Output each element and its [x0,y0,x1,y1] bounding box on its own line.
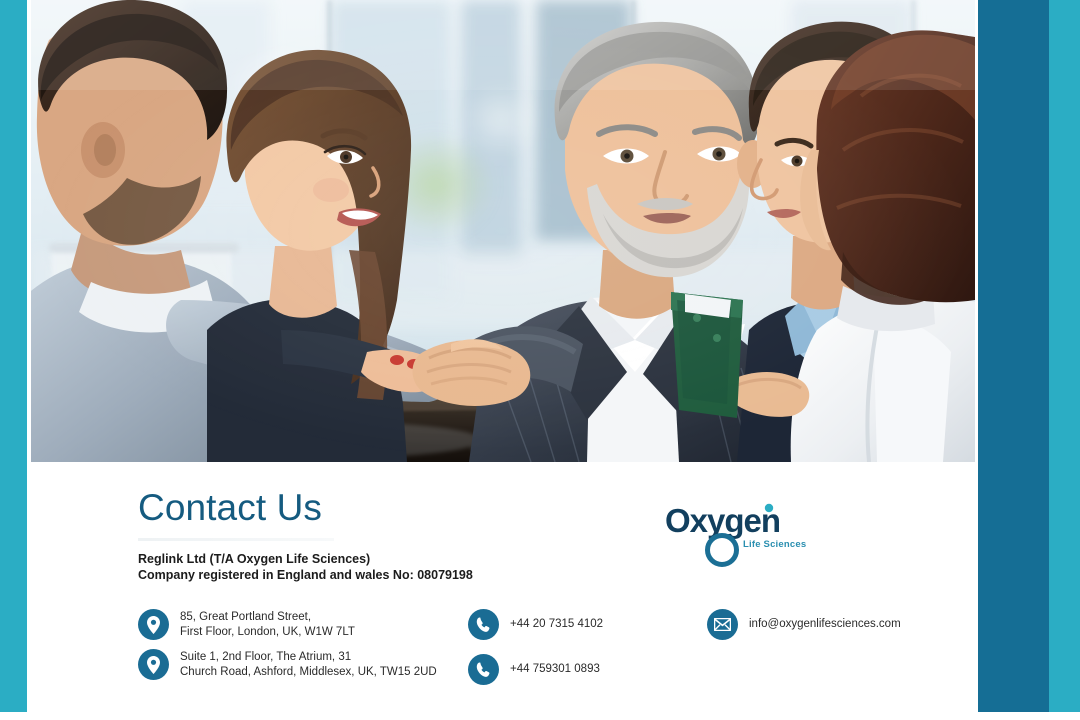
right-accent-band-dark [978,0,1049,712]
right-accent-band-light [1049,0,1080,712]
email-column: info@oxygenlifesciences.com [707,609,977,649]
hero-photo [31,0,975,462]
phone-column: +44 20 7315 4102 +44 759301 0893 [468,609,718,694]
envelope-icon [707,609,738,640]
contact-panel: Contact Us Reglink Ltd (T/A Oxygen Life … [31,462,975,712]
address-line-2: First Floor, London, UK, W1W 7LT [180,625,355,640]
contact-slide: Contact Us Reglink Ltd (T/A Oxygen Life … [0,0,1080,720]
address-text: Suite 1, 2nd Floor, The Atrium, 31 Churc… [180,649,437,679]
email-address: info@oxygenlifesciences.com [749,617,901,632]
phone-icon [468,609,499,640]
title-underline [138,538,334,541]
phone-item[interactable]: +44 759301 0893 [468,654,718,685]
phone-icon [468,654,499,685]
svg-text:Life Sciences: Life Sciences [743,539,806,550]
page-title: Contact Us [138,489,322,526]
address-column: 85, Great Portland Street, First Floor, … [138,609,468,689]
phone-number: +44 759301 0893 [510,662,600,677]
address-text: 85, Great Portland Street, First Floor, … [180,609,355,639]
address-line-1: Suite 1, 2nd Floor, The Atrium, 31 [180,650,437,665]
email-item[interactable]: info@oxygenlifesciences.com [707,609,977,640]
left-accent-band [0,0,27,712]
address-line-2: Church Road, Ashford, Middlesex, UK, TW1… [180,665,437,680]
location-pin-icon [138,609,169,640]
phone-item[interactable]: +44 20 7315 4102 [468,609,718,640]
address-item[interactable]: 85, Great Portland Street, First Floor, … [138,609,468,640]
company-name: Reglink Ltd (T/A Oxygen Life Sciences) [138,551,658,567]
oxygen-logo: Oxygen Life Sciences [665,500,810,572]
address-line-1: 85, Great Portland Street, [180,610,355,625]
location-pin-icon [138,649,169,680]
address-item[interactable]: Suite 1, 2nd Floor, The Atrium, 31 Churc… [138,649,468,680]
company-number: Company registered in England and wales … [138,567,658,583]
company-registration: Reglink Ltd (T/A Oxygen Life Sciences) C… [138,551,658,583]
phone-number: +44 20 7315 4102 [510,617,603,632]
